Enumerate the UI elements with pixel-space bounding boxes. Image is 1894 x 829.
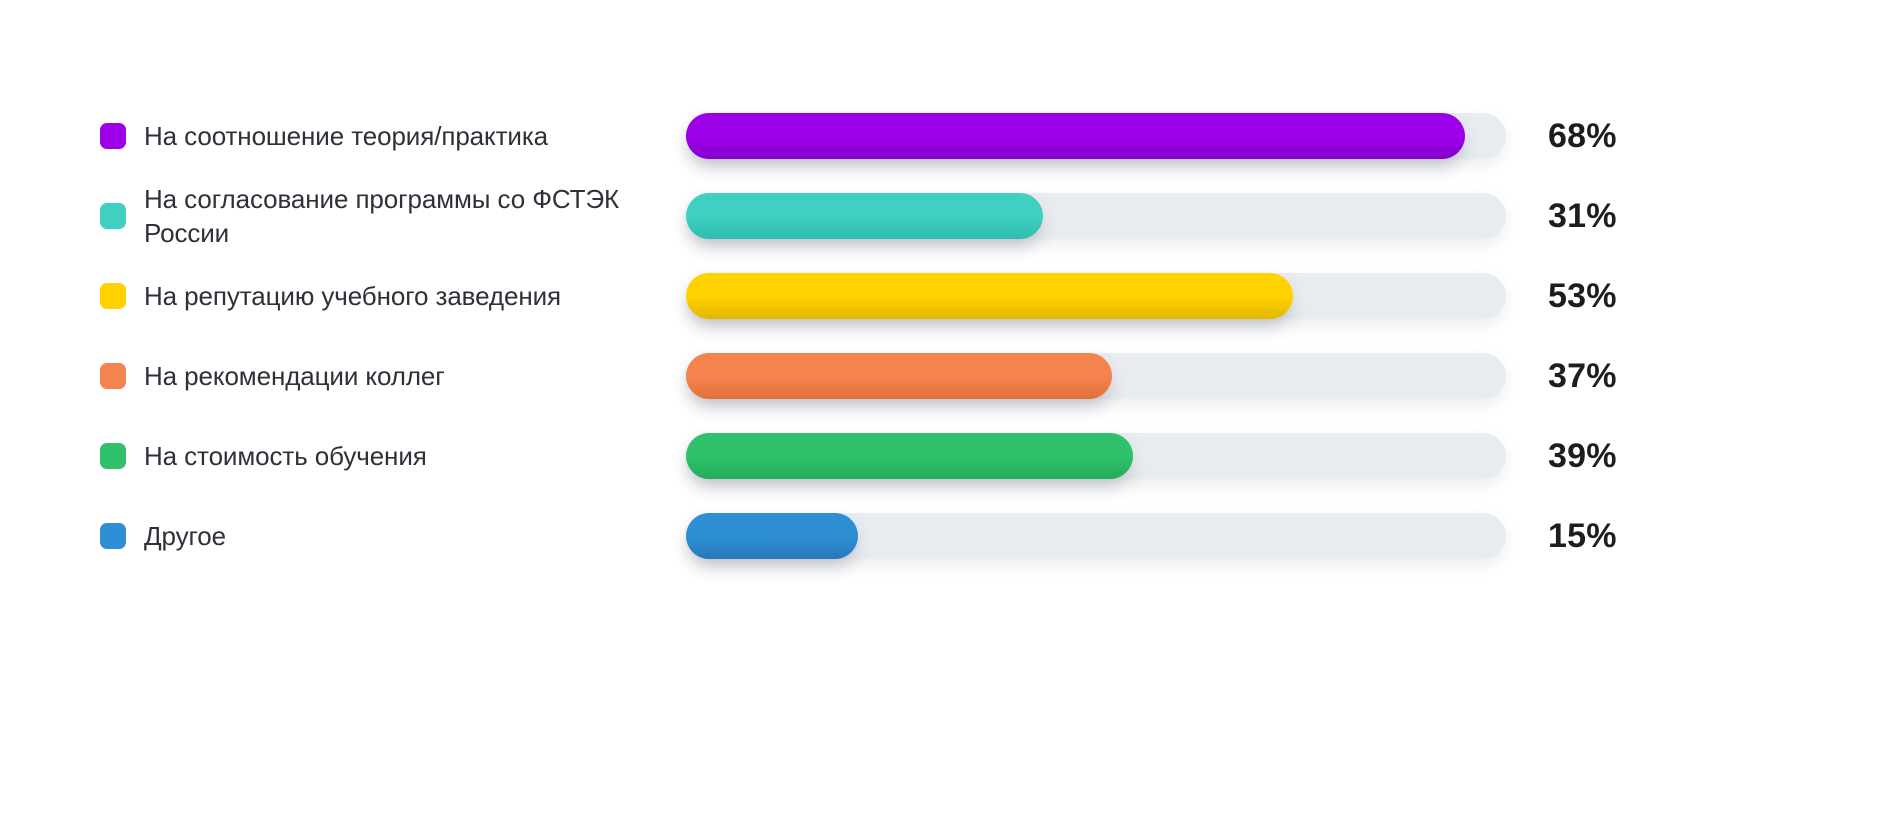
legend-cell: Другое (0, 519, 686, 553)
legend-swatch-purple (100, 123, 126, 149)
chart-row: На репутацию учебного заведения 53% (0, 256, 1894, 336)
legend-cell: На согласование программы со ФСТЭК Росси… (0, 182, 686, 250)
bar-fill (686, 113, 1465, 159)
chart-rows: На соотношение теория/практика 68% На со… (0, 96, 1894, 576)
bar-fill (686, 193, 1043, 239)
legend-cell: На репутацию учебного заведения (0, 279, 686, 313)
bar-cell (686, 96, 1506, 176)
legend-label: На соотношение теория/практика (144, 119, 548, 153)
legend-label: На согласование программы со ФСТЭК Росси… (144, 182, 619, 250)
legend-cell: На рекомендации коллег (0, 359, 686, 393)
legend-label: На рекомендации коллег (144, 359, 445, 393)
bar-fill (686, 513, 858, 559)
bar-cell (686, 176, 1506, 256)
bar-cell (686, 496, 1506, 576)
bar-value-label: 15% (1506, 517, 1746, 556)
bar-value-label: 39% (1506, 437, 1746, 476)
bar-cell (686, 336, 1506, 416)
bar-track (686, 433, 1506, 479)
legend-swatch-teal (100, 203, 126, 229)
legend-swatch-green (100, 443, 126, 469)
legend-swatch-orange (100, 363, 126, 389)
bar-track (686, 513, 1506, 559)
bar-fill (686, 273, 1293, 319)
legend-label: На стоимость обучения (144, 439, 427, 473)
legend-swatch-yellow (100, 283, 126, 309)
chart-row: Другое 15% (0, 496, 1894, 576)
legend-label: На репутацию учебного заведения (144, 279, 561, 313)
horizontal-bar-chart: На соотношение теория/практика 68% На со… (0, 0, 1894, 829)
bar-fill (686, 353, 1112, 399)
bar-value-label: 68% (1506, 117, 1746, 156)
bar-cell (686, 256, 1506, 336)
bar-value-label: 53% (1506, 277, 1746, 316)
chart-row: На согласование программы со ФСТЭК Росси… (0, 176, 1894, 256)
bar-track (686, 113, 1506, 159)
bar-value-label: 37% (1506, 357, 1746, 396)
bar-value-label: 31% (1506, 197, 1746, 236)
legend-label: Другое (144, 519, 226, 553)
bar-track (686, 193, 1506, 239)
bar-track (686, 273, 1506, 319)
legend-cell: На стоимость обучения (0, 439, 686, 473)
chart-row: На стоимость обучения 39% (0, 416, 1894, 496)
bar-cell (686, 416, 1506, 496)
legend-cell: На соотношение теория/практика (0, 119, 686, 153)
chart-row: На рекомендации коллег 37% (0, 336, 1894, 416)
bar-track (686, 353, 1506, 399)
bar-fill (686, 433, 1133, 479)
chart-row: На соотношение теория/практика 68% (0, 96, 1894, 176)
legend-swatch-blue (100, 523, 126, 549)
